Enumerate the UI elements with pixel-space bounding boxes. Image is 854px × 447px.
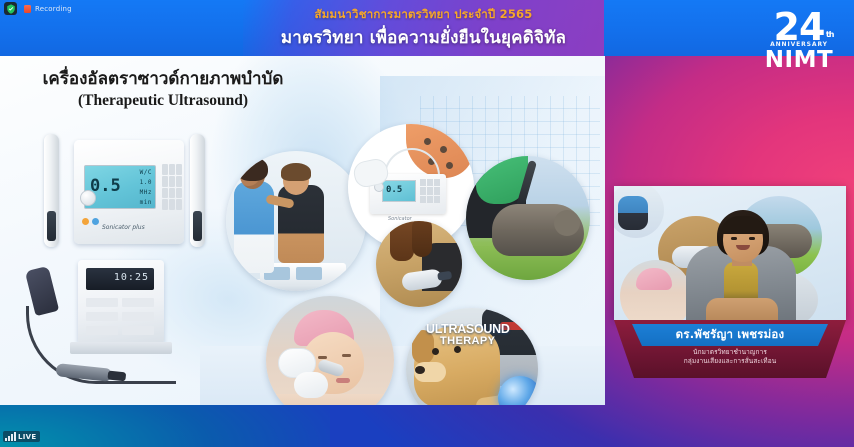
dual-probe-ultrasound-unit: 0.5 W/C 1.0 MHz min Sonicator plus — [42, 134, 217, 249]
broadcast-stage: Recording สัมมนาวิชาการมาตรวิทยา ประจำปี… — [0, 0, 854, 447]
record-stop-icon — [24, 5, 31, 13]
seminar-title-banner: สัมมนาวิชาการมาตรวิทยา ประจำปี 2565 มาตร… — [243, 0, 604, 56]
device-display-label-2: MHz — [140, 189, 152, 196]
device-display-label-1: 1.0 — [140, 179, 152, 186]
device-knob — [80, 190, 96, 206]
device-display-label-3: min — [140, 199, 152, 206]
presentation-slide[interactable]: เครื่องอัลตราซาวด์กายภาพบำบัด (Therapeut… — [0, 56, 605, 405]
speaker-name: ดร.พัชรัญา เพชรม่อง — [676, 326, 785, 344]
org-name: NIMT — [757, 49, 841, 72]
slide-shelf-decoration — [200, 346, 605, 405]
seminar-title: มาตรวิทยา เพื่อความยั่งยืนในยุคดิจิทัล — [243, 24, 604, 51]
photo-dog-receiving-ultrasound-therapy: ULTRASOUND THERAPY — [406, 308, 538, 405]
speaker-title: นักมาตรวิทยาชำนาญการ กลุ่มงานเสียงและการ… — [614, 348, 846, 366]
device-display-label-0: W/C — [140, 169, 152, 176]
device-keypad — [162, 164, 182, 210]
device-led-blue — [92, 218, 99, 225]
compact-ultrasound-unit: 10:25 — [20, 254, 200, 394]
ultrasound-probe-right — [190, 134, 205, 247]
anniversary-number-wrap: 24th — [774, 10, 825, 44]
photo-therapist-treating-patient-shoulder — [226, 151, 366, 291]
slide-title: เครื่องอัลตราซาวด์กายภาพบำบัด (Therapeut… — [18, 68, 308, 110]
speaker-title-line2: กลุ่มงานเสียงและการสั่นสะเทือน — [614, 357, 846, 366]
device2-button-row-2 — [86, 312, 154, 321]
anniversary-word: ANNIVERSARY — [757, 41, 841, 48]
device-led-amber — [82, 218, 89, 225]
photo-equine-leg-ultrasound-therapy — [376, 221, 462, 307]
ultrasound-therapy-logo: ULTRASOUND THERAPY — [426, 318, 538, 358]
nimt-anniversary-logo: 24th ANNIVERSARY NIMT — [757, 10, 841, 92]
device-screen: 0.5 W/C 1.0 MHz min — [84, 165, 156, 209]
photo-cat-receiving-ultrasound-therapy — [466, 156, 590, 280]
shield-check-icon — [4, 2, 17, 15]
ultrasound-logo-line2: THERAPY — [440, 335, 495, 347]
device2-button-row-3 — [86, 326, 154, 335]
ultrasound-probe-left — [44, 134, 59, 247]
live-label: LIVE — [18, 433, 36, 441]
recording-label: Recording — [35, 5, 72, 13]
recording-indicator[interactable]: Recording — [4, 2, 72, 15]
ultrasound-logo-line1: ULTRASOUND — [426, 322, 510, 336]
slide-title-english: (Therapeutic Ultrasound) — [18, 92, 308, 110]
nameplate-name-bar: ดร.พัชรัญา เพชรม่อง — [632, 324, 828, 346]
device-brand-label: Sonicator plus — [102, 224, 145, 231]
device2-display: 10:25 — [86, 268, 154, 290]
speaker-person — [686, 208, 796, 320]
device2-button-row-1 — [86, 298, 154, 307]
device2-base — [70, 342, 172, 354]
seminar-subtitle: สัมมนาวิชาการมาตรวิทยา ประจำปี 2565 — [243, 6, 604, 24]
device2-display-value: 10:25 — [114, 272, 149, 283]
speaker-camera-feed[interactable] — [614, 186, 846, 320]
top-bar: Recording สัมมนาวิชาการมาตรวิทยา ประจำปี… — [0, 0, 854, 56]
speaker-title-line1: นักมาตรวิทยาชำนาญการ — [614, 348, 846, 357]
live-status-indicator: LIVE — [3, 431, 40, 442]
device-display-value: 0.5 — [90, 178, 121, 195]
photo-facial-ultrasound-beauty-treatment — [266, 296, 394, 405]
signal-bars-icon — [5, 432, 16, 441]
speaker-nameplate: ดร.พัชรัญา เพชรม่อง นักมาตรวิทยาชำนาญการ… — [614, 320, 846, 380]
slide-title-thai: เครื่องอัลตราซาวด์กายภาพบำบัด — [18, 68, 308, 90]
